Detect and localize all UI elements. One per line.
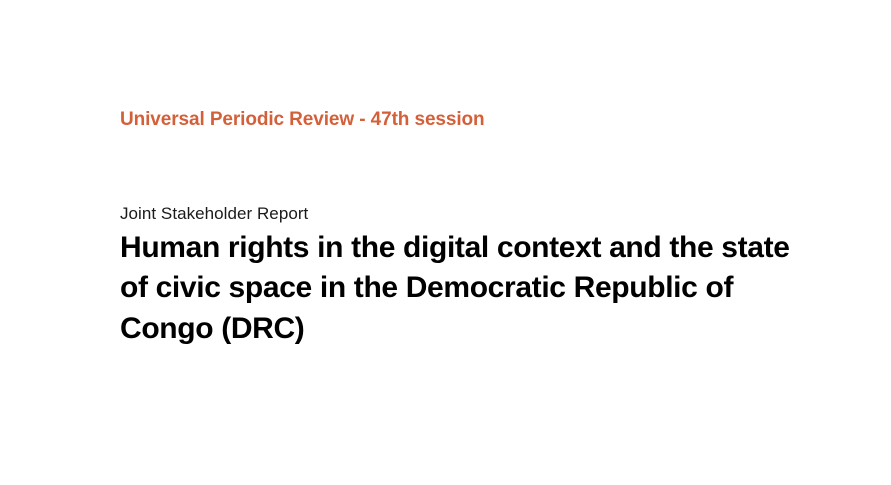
page-title: Human rights in the digital context and … — [120, 228, 810, 350]
title-group: Joint Stakeholder Report Human rights in… — [120, 203, 820, 349]
session-header-block: Universal Periodic Review - 47th session — [120, 108, 820, 131]
session-header: Universal Periodic Review - 47th session — [120, 108, 820, 131]
report-kicker: Joint Stakeholder Report — [120, 203, 820, 226]
cover-page: Universal Periodic Review - 47th session… — [0, 0, 891, 485]
